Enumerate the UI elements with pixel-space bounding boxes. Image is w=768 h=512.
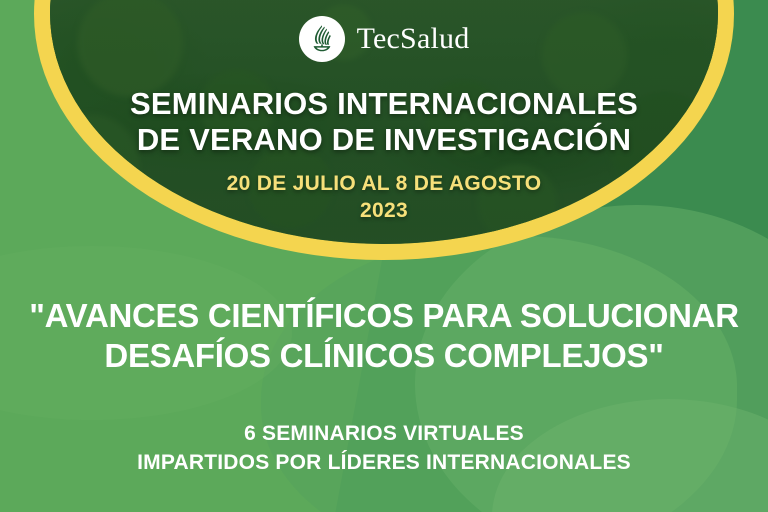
detail-block: 6 SEMINARIOS VIRTUALES IMPARTIDOS POR LÍ… — [0, 419, 768, 479]
main-text-block: "AVANCES CIENTÍFICOS PARA SOLUCIONAR DES… — [0, 296, 768, 478]
brand-lockup: TecSalud — [0, 16, 768, 62]
hero-date-range: 20 DE JULIO AL 8 DE AGOSTO — [0, 170, 768, 197]
quote-line-1: "AVANCES CIENTÍFICOS PARA SOLUCIONAR — [0, 296, 768, 336]
detail-line-1: 6 SEMINARIOS VIRTUALES — [0, 419, 768, 449]
detail-line-2: IMPARTIDOS POR LÍDERES INTERNACIONALES — [0, 448, 768, 478]
hero-year: 2023 — [0, 197, 768, 224]
tecsalud-wordmark: TecSalud — [357, 24, 470, 54]
hero-title-line-2: DE VERANO DE INVESTIGACIÓN — [0, 122, 768, 158]
poster: TecSalud SEMINARIOS INTERNACIONALES DE V… — [0, 0, 768, 512]
tecsalud-flame-icon — [299, 16, 345, 62]
hero-text-block: SEMINARIOS INTERNACIONALES DE VERANO DE … — [0, 86, 768, 225]
quote-line-2: DESAFÍOS CLÍNICOS COMPLEJOS" — [0, 336, 768, 376]
hero-title-line-1: SEMINARIOS INTERNACIONALES — [0, 86, 768, 122]
